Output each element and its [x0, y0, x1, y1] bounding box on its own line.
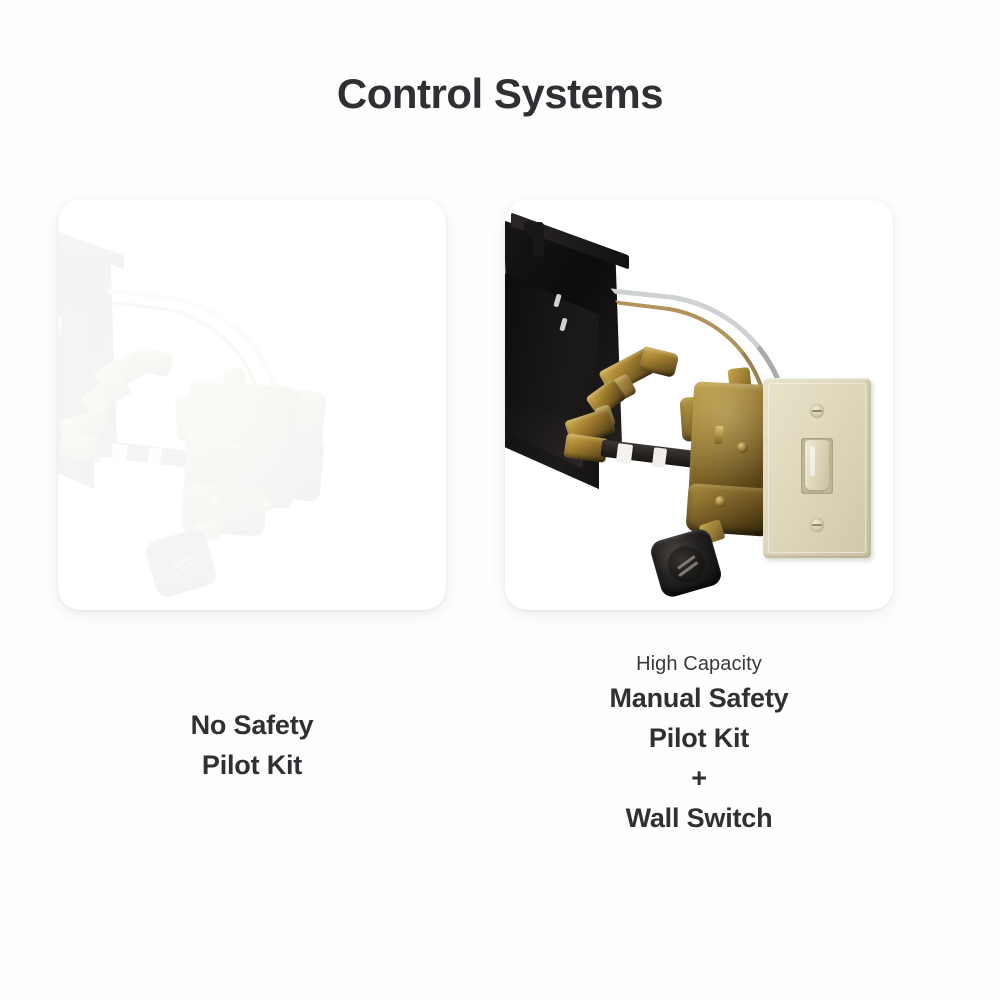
page-title: Control Systems [0, 70, 1000, 118]
switch-toggle-lever [805, 440, 829, 490]
knob-dial-face [663, 540, 710, 587]
tube-ferrule [111, 443, 128, 464]
option-card-manual-safety-pilot-kit-wall-switch[interactable] [505, 200, 893, 610]
caption-line: Pilot Kit [58, 745, 446, 785]
option-captions-row: No Safety Pilot Kit High Capacity Manual… [0, 650, 1000, 900]
product-option-comparison: Control Systems [0, 0, 1000, 1000]
caption-no-safety-pilot-kit: No Safety Pilot Kit [58, 650, 446, 785]
valve-screw [715, 496, 726, 507]
product-image-active [505, 200, 893, 610]
option-cards-row [0, 200, 1000, 612]
option-card-no-safety-pilot-kit[interactable] [58, 200, 446, 610]
tube-ferrule [147, 447, 162, 467]
ivory-wall-switch-plate [763, 378, 871, 558]
caption-line: Pilot Kit [505, 718, 893, 758]
caption-line: Manual Safety [505, 678, 893, 718]
switch-screw-top [810, 404, 824, 418]
caption-line: No Safety [58, 705, 446, 745]
valve-screw [262, 500, 273, 511]
caption-manual-safety-pilot-kit: High Capacity Manual Safety Pilot Kit + … [505, 650, 893, 838]
valve-pin [209, 426, 218, 445]
switch-screw-bottom [810, 518, 824, 532]
burner-pan-hook [533, 222, 544, 256]
product-image-faded [58, 200, 446, 610]
caption-line-plus: + [505, 758, 893, 798]
knob-dial-face [158, 540, 205, 587]
valve-screw [232, 442, 243, 453]
caption-line: Wall Switch [505, 798, 893, 838]
tube-ferrule [652, 447, 667, 467]
tube-ferrule [616, 443, 633, 464]
caption-eyebrow: High Capacity [505, 650, 893, 678]
switch-opening [801, 438, 833, 494]
valve-pin [714, 426, 723, 445]
valve-screw [737, 442, 748, 453]
valve-screw [210, 496, 221, 507]
